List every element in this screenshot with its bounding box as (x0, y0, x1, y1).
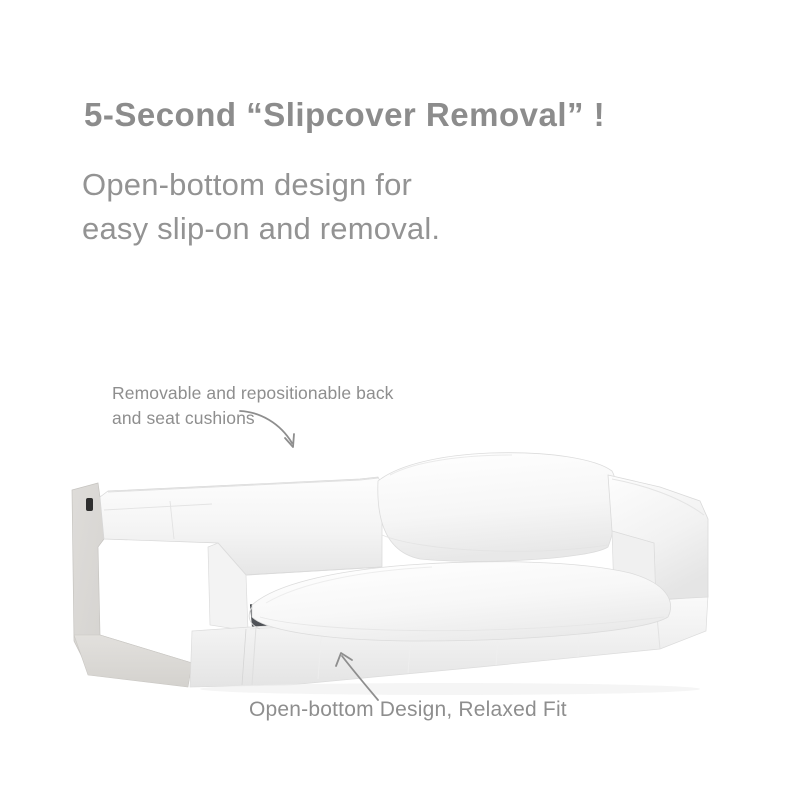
curved-arrow-up-left-icon (330, 648, 390, 704)
back-cushion (378, 453, 617, 562)
page-subheading: Open-bottom design for easy slip-on and … (82, 163, 642, 251)
infographic-page: 5-Second “Slipcover Removal” ! Open-bott… (0, 0, 790, 790)
subheading-line-1: Open-bottom design for (82, 163, 642, 207)
seat-cushion (252, 562, 671, 641)
callout-open-bottom-label: Open-bottom Design, Relaxed Fit (249, 698, 567, 722)
page-headline: 5-Second “Slipcover Removal” ! (84, 94, 764, 135)
brand-tag-icon (86, 498, 93, 511)
subheading-line-2: easy slip-on and removal. (82, 207, 642, 251)
callout-cushions-line-1: Removable and repositionable back (112, 381, 512, 406)
slipcovered-sofa-photo (60, 435, 730, 705)
